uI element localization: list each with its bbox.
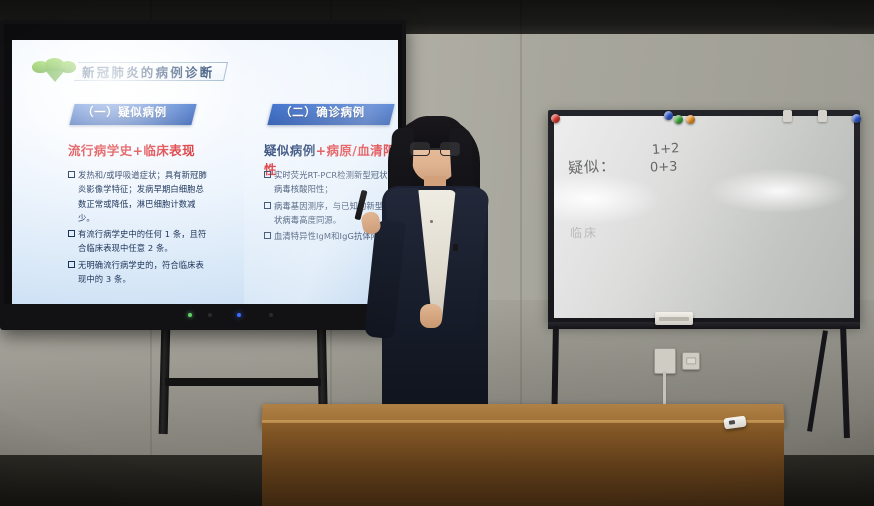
whiteboard-note-2: 1+2 [652,141,680,158]
slide-title: 新冠肺炎的病例诊断 [82,62,214,81]
presenter [360,108,510,408]
glasses-lens-right [440,142,460,156]
display-stand-crossbar [165,378,321,386]
sensor-window [208,313,212,317]
section-chip-2-label: （二）确诊病例 [280,104,365,120]
whiteboard-surface[interactable]: 疑似： 1+2 0+3 临床 [554,116,854,318]
whiteboard-note-4: 临床 [570,224,598,241]
section-1-subheading-red: 流行病学史+临床表现 [68,143,195,158]
wall-socket [682,352,700,370]
whiteboard-note-3: 0+3 [650,160,678,176]
slide-header: 新冠肺炎的病例诊断 [24,60,274,86]
whiteboard[interactable]: 疑似： 1+2 0+3 临床 [548,110,860,324]
board-clip-left[interactable] [783,110,792,122]
section-chip-1-label: （一）疑似病例 [82,104,167,120]
magnet-blue[interactable] [664,111,673,120]
whiteboard-tray [548,322,860,329]
glasses-icon [410,142,460,156]
whiteboard-note-1: 疑似： [567,155,616,178]
lecture-scene: 新冠肺炎的病例诊断 （一）疑似病例 流行病学史+临床表现 发热和/或呼吸道症状；… [0,0,874,506]
clip-microphone [453,244,458,251]
blouse-button [430,220,433,223]
section-1-bullets: 发热和/或呼吸道症状；具有新冠肺炎影像学特征；发病早期白细胞总数正常或降低，淋巴… [68,168,210,288]
magnet-red[interactable] [551,114,560,123]
magnet-green[interactable] [674,115,683,124]
hand-left [420,304,442,328]
board-eraser[interactable] [655,312,693,325]
whiteboard-glare-left [554,173,662,226]
section-1-subheading: 流行病学史+临床表现 [68,140,195,159]
board-clip-right[interactable] [818,110,827,122]
magnet-orange[interactable] [686,115,695,124]
display-bezel [4,304,402,326]
list-item: 无明确流行病学史的，符合临床表现中的 3 条。 [68,258,210,287]
socket-face [686,357,696,364]
list-item: 有流行病学史中的任何 1 条，且符合临床表现中任意 2 条。 [68,227,210,256]
section-2-subheading-plain: 疑似病例 [264,143,316,158]
magnet-blue-right[interactable] [852,114,861,123]
leaf-icon [32,58,76,76]
desk-front-panel [262,423,784,506]
interactive-display[interactable]: 新冠肺炎的病例诊断 （一）疑似病例 流行病学史+临床表现 发热和/或呼吸道症状；… [0,20,406,330]
ir-receiver [269,313,273,317]
status-led [237,313,241,317]
whiteboard-glare-right [710,169,848,213]
wall-junction-box [654,348,676,374]
list-item: 发热和/或呼吸道症状；具有新冠肺炎影像学特征；发病早期白细胞总数正常或降低，淋巴… [68,168,210,225]
glasses-bridge [430,148,440,150]
glasses-lens-left [410,142,430,156]
power-led [188,313,192,317]
presentation-slide: 新冠肺炎的病例诊断 （一）疑似病例 流行病学史+临床表现 发热和/或呼吸道症状；… [12,40,398,308]
